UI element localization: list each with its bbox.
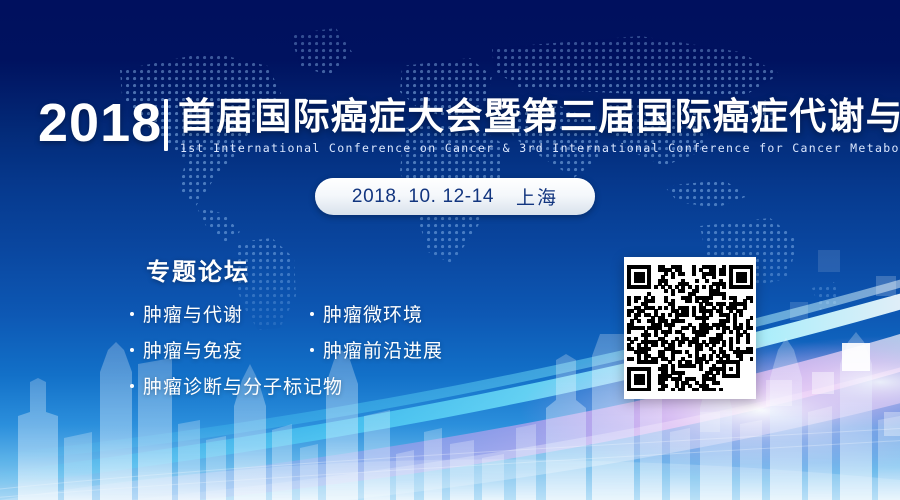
forum-topic-item: 肿瘤与免疫: [130, 336, 310, 363]
square-3: [876, 276, 896, 296]
square-6: [766, 380, 792, 406]
forum-topic-item: 肿瘤前沿进展: [310, 336, 443, 363]
event-city: 上海: [516, 183, 558, 210]
bullet-icon: [130, 384, 134, 388]
forum-topic-row: 肿瘤诊断与分子标记物: [130, 372, 550, 399]
forum-topic-row: 肿瘤与代谢肿瘤微环境: [130, 300, 550, 327]
forum-topic-label: 肿瘤前沿进展: [323, 336, 443, 363]
forum-topic-label: 肿瘤与代谢: [143, 300, 243, 327]
forum-topic-label: 肿瘤与免疫: [143, 336, 243, 363]
square-2: [812, 372, 834, 394]
banner-header: 2018 首届国际癌症大会暨第三届国际癌症代谢与治疗大会 1st Interna…: [0, 96, 900, 166]
forum-topic-label: 肿瘤诊断与分子标记物: [143, 372, 343, 399]
square-5: [818, 250, 840, 272]
conference-banner: 2018 首届国际癌症大会暨第三届国际癌症代谢与治疗大会 1st Interna…: [0, 0, 900, 500]
qr-code-canvas: [627, 265, 753, 391]
forum-topic-item: 肿瘤诊断与分子标记物: [130, 372, 310, 399]
bullet-icon: [130, 348, 134, 352]
forum-topic-list: 肿瘤与代谢肿瘤微环境肿瘤与免疫肿瘤前沿进展肿瘤诊断与分子标记物: [130, 300, 550, 399]
bullet-icon: [310, 312, 314, 316]
title-divider: [164, 99, 168, 151]
forum-topic-item: 肿瘤微环境: [310, 300, 423, 327]
square-1: [842, 343, 870, 371]
forum-topic-item: 肿瘤与代谢: [130, 300, 310, 327]
date-location-badge: 2018. 10. 12-14 上海: [315, 178, 595, 215]
square-8: [884, 412, 900, 436]
conference-title-chinese: 首届国际癌症大会暨第三届国际癌症代谢与治疗大会: [178, 93, 900, 141]
year-label: 2018: [38, 94, 162, 152]
conference-title-english: 1st International Conference on Cancer &…: [180, 141, 900, 155]
square-7: [700, 412, 720, 432]
bullet-icon: [310, 348, 314, 352]
forum-topic-label: 肿瘤微环境: [323, 300, 423, 327]
event-date: 2018. 10. 12-14: [352, 186, 494, 208]
bullet-icon: [130, 312, 134, 316]
square-4: [790, 302, 808, 320]
forum-topic-row: 肿瘤与免疫肿瘤前沿进展: [130, 336, 550, 363]
forum-heading: 专题论坛: [146, 252, 550, 287]
qr-code[interactable]: [624, 257, 756, 399]
forum-section: 专题论坛 肿瘤与代谢肿瘤微环境肿瘤与免疫肿瘤前沿进展肿瘤诊断与分子标记物: [130, 252, 550, 408]
